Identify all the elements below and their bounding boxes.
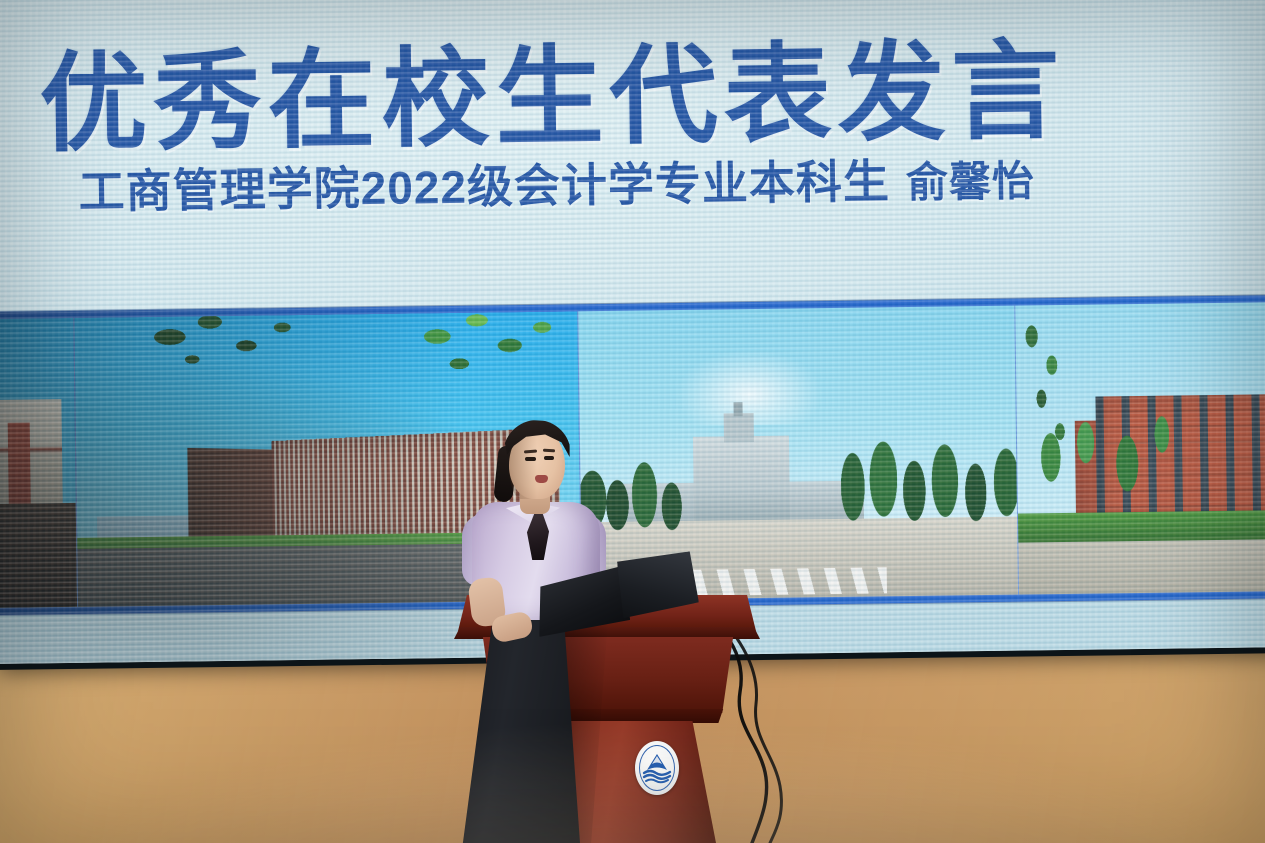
speaker-mouth xyxy=(535,475,548,483)
folder-left-leaf xyxy=(534,565,631,637)
speaker-brow-right xyxy=(543,449,555,453)
photo1-ground xyxy=(0,503,77,608)
photo-scene: 优秀在校生代表发言 工商管理学院2022级会计学专业本科生俞馨怡 xyxy=(0,0,1265,843)
slide-title: 优秀在校生代表发言 xyxy=(39,35,1160,160)
photo4-tall-tree xyxy=(1014,310,1097,519)
slide-subtitle: 工商管理学院2022级会计学专业本科生 xyxy=(78,155,890,218)
photo2-foliage-right xyxy=(386,311,568,406)
red-brick-block-photo xyxy=(1014,302,1265,594)
folder-right-leaf xyxy=(617,551,700,624)
speaker-eye-right xyxy=(544,456,554,460)
speaker-eye-left xyxy=(525,457,536,461)
photo2-foliage-left xyxy=(125,311,327,386)
student-speaker xyxy=(440,418,680,843)
photo3-tower xyxy=(723,413,754,442)
slide-text-block: 优秀在校生代表发言 工商管理学院2022级会计学专业本科生俞馨怡 xyxy=(39,35,1161,218)
photo3-main-building xyxy=(693,436,790,524)
slide-speaker-name: 俞馨怡 xyxy=(906,157,1036,206)
campus-gate-photo xyxy=(0,318,77,608)
speaker-skirt xyxy=(458,604,580,843)
photo1-pillar-cap xyxy=(2,413,36,422)
photo3-trees-right xyxy=(832,410,1017,534)
photo3-spire xyxy=(734,402,743,417)
speech-folder xyxy=(533,551,699,641)
